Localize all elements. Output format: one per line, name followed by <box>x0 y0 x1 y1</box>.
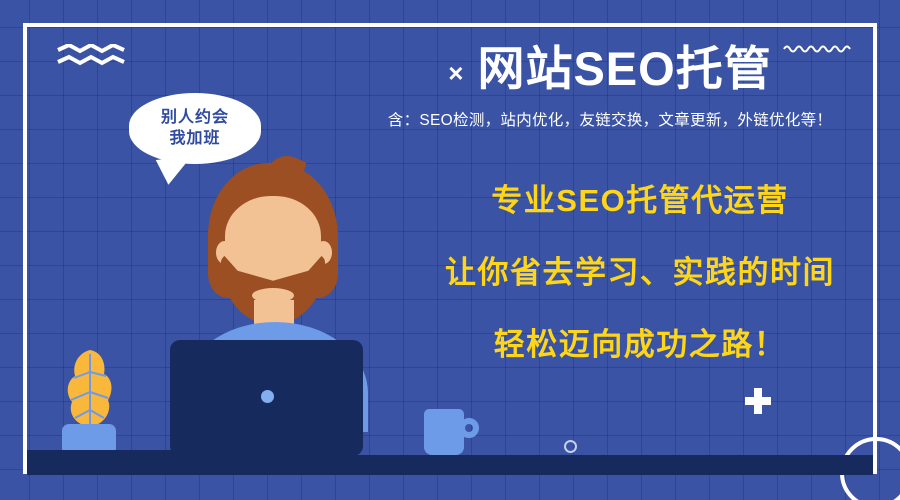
character-ear-right <box>315 241 332 264</box>
slogan-block: 专业SEO托管代运营 让你省去学习、实践的时间 轻松迈向成功之路！ <box>400 185 880 360</box>
double-wave-icon <box>57 44 125 68</box>
speech-bubble-line-2: 我加班 <box>139 128 251 149</box>
circle-outline-icon <box>564 440 577 453</box>
character-neck <box>254 300 294 342</box>
laptop <box>170 340 363 456</box>
title-row: × 网站SEO托管 <box>330 44 890 93</box>
page-title: 网站SEO托管 <box>477 44 771 93</box>
x-mark-icon: × <box>448 60 463 86</box>
plus-icon <box>745 388 771 414</box>
desk-edge <box>27 450 357 458</box>
plant-pot <box>62 424 116 455</box>
character-hair-tuft <box>263 150 307 194</box>
character-hair <box>208 163 338 298</box>
slogan-line-3: 轻松迈向成功之路！ <box>400 329 880 360</box>
speech-bubble-tail <box>156 156 195 186</box>
slogan-line-2: 让你省去学习、实践的时间 <box>400 257 880 288</box>
coffee-mug-handle <box>459 418 479 438</box>
character-face <box>225 196 321 314</box>
slogan-line-1: 专业SEO托管代运营 <box>400 185 880 216</box>
laptop-logo-icon <box>261 390 274 403</box>
coffee-mug <box>424 409 464 455</box>
seo-hosting-banner: 别人约会 我加班 × 网站SEO托管 含：SEO检测，站内优化，友链交换，文章更… <box>0 0 900 500</box>
character-ear-left <box>216 241 233 264</box>
character-shirt <box>182 322 368 432</box>
page-subtitle: 含：SEO检测，站内优化，友链交换，文章更新，外链优化等！ <box>330 108 890 130</box>
character-mouth <box>252 288 294 303</box>
desk-surface <box>27 455 873 475</box>
corner-circle-icon <box>840 437 900 500</box>
speech-bubble: 别人约会 我加班 <box>129 93 261 164</box>
headline-block: × 网站SEO托管 含：SEO检测，站内优化，友链交换，文章更新，外链优化等！ <box>330 44 890 130</box>
speech-bubble-line-1: 别人约会 <box>139 107 251 128</box>
character-beard <box>221 252 325 324</box>
plant-leaf-icon <box>60 348 120 432</box>
speech-bubble-body: 别人约会 我加班 <box>129 93 261 164</box>
